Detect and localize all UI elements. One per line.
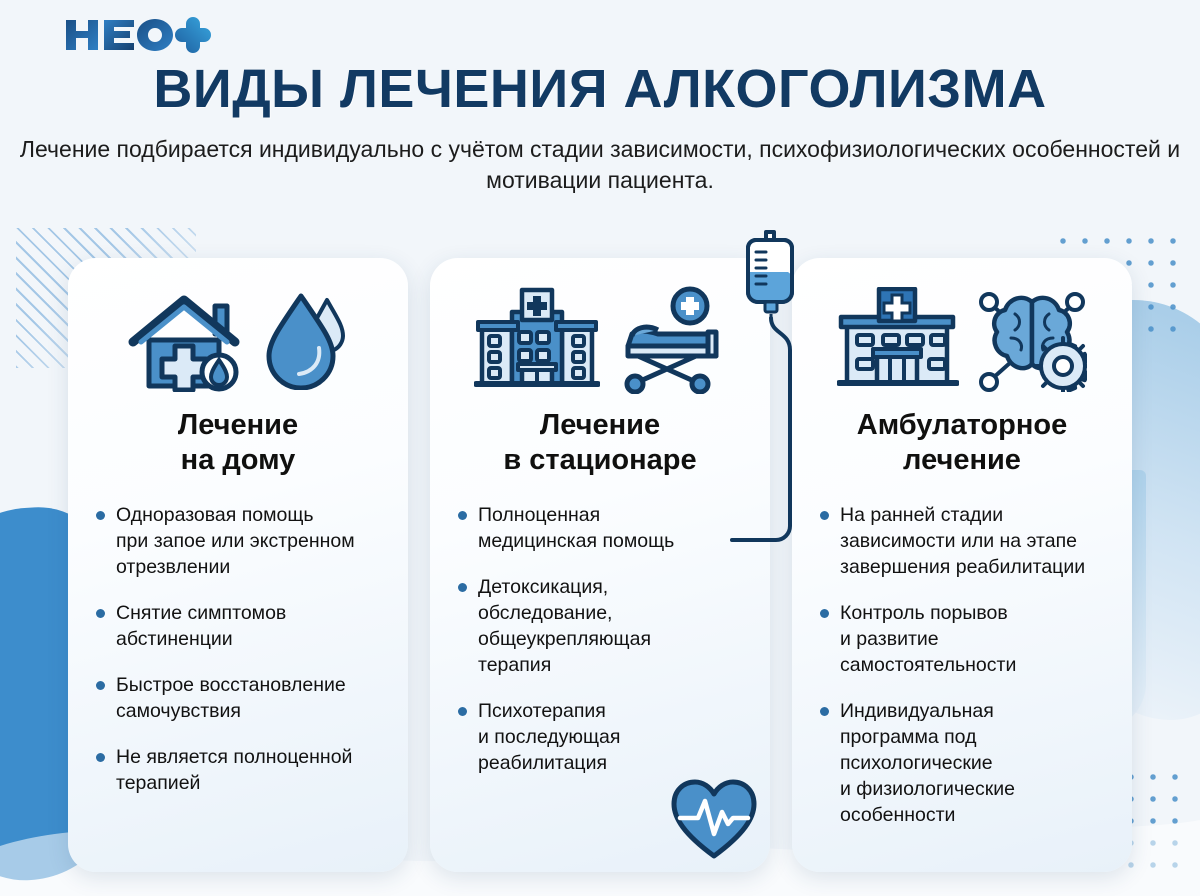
card-home-treatment[interactable]: Лечение на дому Одноразовая помощь при з… <box>68 258 408 872</box>
bullet-dot-icon <box>458 511 467 520</box>
neo-plus-logo-icon <box>62 14 212 54</box>
card-bullet-list: Полноценная медицинская помощь Детоксика… <box>452 502 748 776</box>
bullet-dot-icon <box>820 707 829 716</box>
bullet-dot-icon <box>820 609 829 618</box>
list-item: Психотерапия и последующая реабилитация <box>458 698 748 776</box>
card-outpatient-treatment[interactable]: Амбулаторное лечение На ранней стадии за… <box>792 258 1132 872</box>
water-droplet-icon <box>265 290 349 390</box>
page-subtitle: Лечение подбирается индивидуально с учёт… <box>0 134 1200 196</box>
bullet-text: Не является полноценной терапией <box>116 744 352 796</box>
bullet-text: Детоксикация, обследование, общеукрепляю… <box>478 574 651 678</box>
list-item: Не является полноценной терапией <box>96 744 386 796</box>
bullet-dot-icon <box>96 681 105 690</box>
bullet-text: Одноразовая помощь при запое или экстрен… <box>116 502 355 580</box>
brain-gear-icon <box>977 288 1087 392</box>
bullet-dot-icon <box>820 511 829 520</box>
card-title: Лечение в стационаре <box>452 408 748 478</box>
card-icons <box>452 284 748 396</box>
bullet-text: Полноценная медицинская помощь <box>478 502 674 554</box>
card-title: Лечение на дому <box>90 408 386 478</box>
bullet-dot-icon <box>96 753 105 762</box>
list-item: Полноценная медицинская помощь <box>458 502 748 554</box>
house-medical-icon <box>127 288 247 392</box>
bullet-text: Быстрое восстановление самочувствия <box>116 672 346 724</box>
list-item: Быстрое восстановление самочувствия <box>96 672 386 724</box>
card-bullet-list: На ранней стадии зависимости или на этап… <box>814 502 1110 828</box>
bullet-text: Снятие симптомов абстиненции <box>116 600 286 652</box>
card-title: Амбулаторное лечение <box>814 408 1110 478</box>
card-bullet-list: Одноразовая помощь при запое или экстрен… <box>90 502 386 796</box>
bullet-text: На ранней стадии зависимости или на этап… <box>840 502 1085 580</box>
card-icons <box>90 284 386 396</box>
bullet-text: Контроль порывов и развитие самостоятель… <box>840 600 1016 678</box>
bullet-text: Индивидуальная программа под психологиче… <box>840 698 1015 828</box>
neo-plus-logo <box>62 14 1200 54</box>
list-item: Одноразовая помощь при запое или экстрен… <box>96 502 386 580</box>
card-icons <box>814 284 1110 396</box>
page-title: ВИДЫ ЛЕЧЕНИЯ АЛКОГОЛИЗМА <box>0 58 1200 120</box>
list-item: Индивидуальная программа под психологиче… <box>820 698 1110 828</box>
hospital-gurney-icon <box>618 286 726 394</box>
page-header: ВИДЫ ЛЕЧЕНИЯ АЛКОГОЛИЗМА Лечение подбира… <box>0 0 1200 196</box>
bullet-dot-icon <box>458 707 467 716</box>
bullet-text: Психотерапия и последующая реабилитация <box>478 698 620 776</box>
iv-drip-icon <box>726 226 816 571</box>
clinic-building-icon <box>837 287 959 393</box>
list-item: На ранней стадии зависимости или на этап… <box>820 502 1110 580</box>
list-item: Контроль порывов и развитие самостоятель… <box>820 600 1110 678</box>
bullet-dot-icon <box>96 609 105 618</box>
bullet-dot-icon <box>458 583 467 592</box>
hospital-building-icon <box>474 286 600 394</box>
bullet-dot-icon <box>96 511 105 520</box>
heart-pulse-icon <box>668 776 760 867</box>
treatment-cards-container: Лечение на дому Одноразовая помощь при з… <box>0 258 1200 872</box>
list-item: Детоксикация, обследование, общеукрепляю… <box>458 574 748 678</box>
list-item: Снятие симптомов абстиненции <box>96 600 386 652</box>
